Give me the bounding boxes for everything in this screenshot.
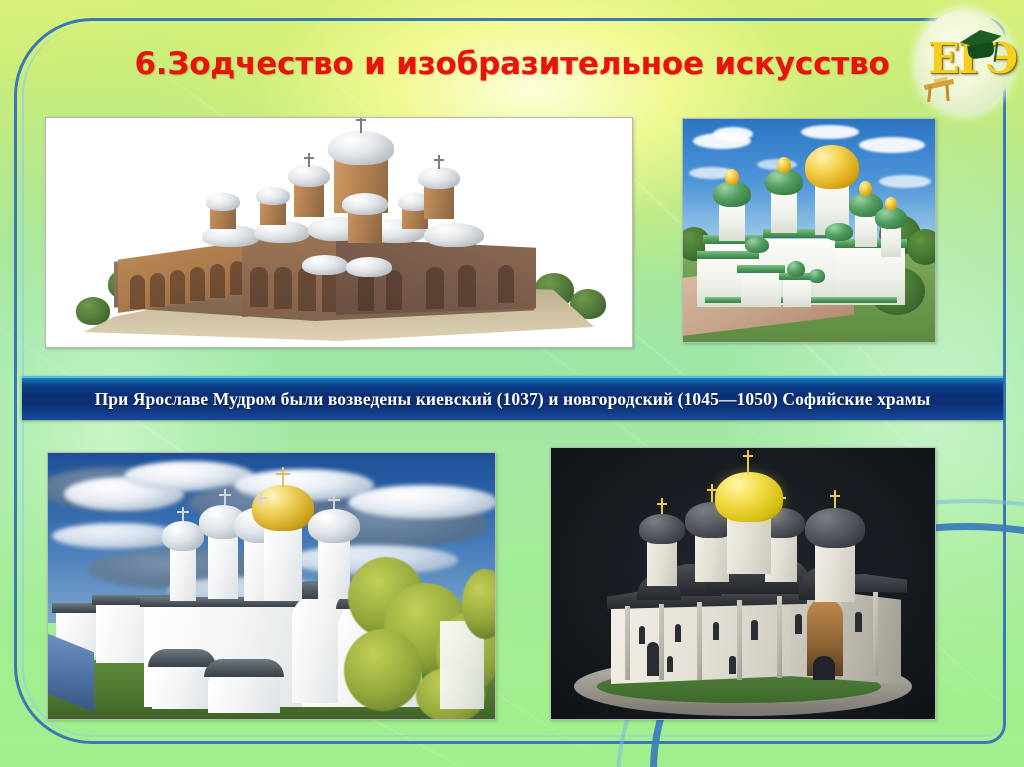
caption-banner: При Ярославе Мудром были возведены киевс… <box>22 376 1003 420</box>
image-novgorod-sophia-model <box>550 447 936 720</box>
desk-leg <box>927 86 932 102</box>
presentation-slide: 6.Зодчество и изобразительное искусство … <box>0 0 1024 767</box>
image-novgorod-sophia-cathedral <box>47 452 496 720</box>
ege-logo: ЕГЭ <box>910 8 1018 116</box>
image-kiev-sophia-cathedral <box>682 118 936 343</box>
slide-title: 6.Зодчество и изобразительное искусство <box>0 46 1024 82</box>
image-kiev-sophia-reconstruction <box>45 117 633 348</box>
caption-text: При Ярославе Мудром были возведены киевс… <box>95 389 931 410</box>
desk-leg <box>945 85 949 101</box>
